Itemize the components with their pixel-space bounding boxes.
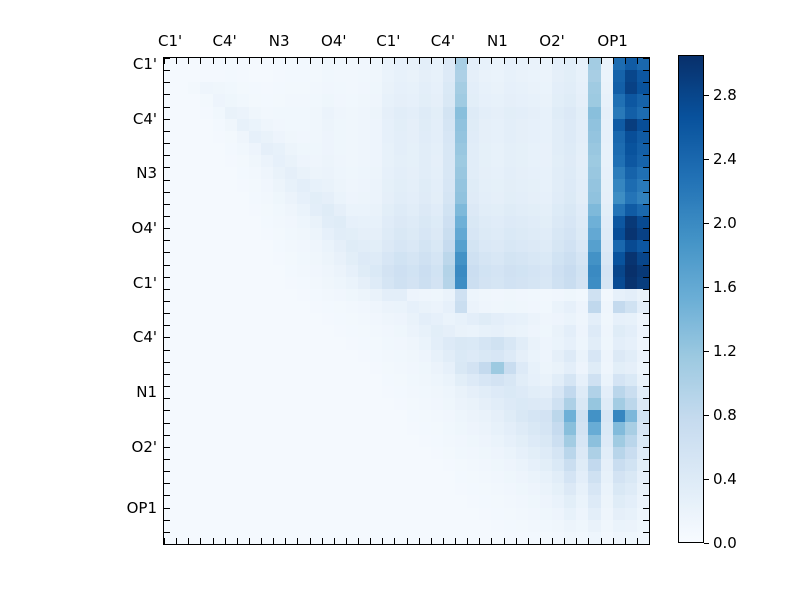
heatmap-cell [540, 240, 552, 252]
y-tick-mark [164, 350, 170, 351]
heatmap-cell [613, 422, 625, 434]
heatmap-cell [516, 325, 528, 337]
heatmap-cell [176, 265, 188, 277]
heatmap-cell [601, 483, 613, 495]
heatmap-cell [407, 289, 419, 301]
y-tick-mark [164, 301, 170, 302]
heatmap-cell [188, 155, 200, 167]
heatmap-cell [588, 422, 600, 434]
heatmap-cell [552, 277, 564, 289]
heatmap-cell [491, 216, 503, 228]
heatmap-cell [540, 82, 552, 94]
heatmap-cell [213, 495, 225, 507]
heatmap-cell [504, 252, 516, 264]
heatmap-cell [382, 508, 394, 520]
heatmap-cell [334, 179, 346, 191]
heatmap-cell [249, 350, 261, 362]
heatmap-cell [637, 532, 649, 544]
heatmap-cell [285, 362, 297, 374]
heatmap-cell [188, 532, 200, 544]
heatmap-cell [176, 350, 188, 362]
heatmap-cell [407, 252, 419, 264]
heatmap-cell [431, 495, 443, 507]
heatmap-cell [285, 192, 297, 204]
heatmap-cell [261, 252, 273, 264]
heatmap-cell [479, 495, 491, 507]
heatmap-cell [213, 143, 225, 155]
heatmap-cell [394, 386, 406, 398]
heatmap-cell [479, 410, 491, 422]
heatmap-cell [200, 350, 212, 362]
heatmap-cell [358, 508, 370, 520]
heatmap-cell [625, 216, 637, 228]
heatmap-cell [394, 374, 406, 386]
heatmap-cell [443, 374, 455, 386]
heatmap-cell [322, 532, 334, 544]
heatmap-cell [491, 155, 503, 167]
heatmap-cell [297, 240, 309, 252]
y-tick-mark [164, 471, 170, 472]
y-tick-mark [643, 374, 649, 375]
heatmap-cell [297, 119, 309, 131]
heatmap-cell [516, 167, 528, 179]
heatmap-cell [431, 179, 443, 191]
heatmap-cell [285, 107, 297, 119]
heatmap-cell [188, 216, 200, 228]
heatmap-cell [588, 216, 600, 228]
heatmap-cell [443, 228, 455, 240]
x-tick-mark [249, 58, 250, 64]
heatmap-cell [273, 289, 285, 301]
heatmap-cell [394, 70, 406, 82]
heatmap-cell [407, 435, 419, 447]
heatmap-cell [176, 337, 188, 349]
heatmap-cell [176, 228, 188, 240]
heatmap-cell [176, 240, 188, 252]
heatmap-cell [576, 374, 588, 386]
heatmap-cell [528, 240, 540, 252]
heatmap-cell [382, 167, 394, 179]
heatmap-cell [176, 362, 188, 374]
heatmap-cell [322, 483, 334, 495]
heatmap-cell [455, 374, 467, 386]
heatmap-cell [346, 265, 358, 277]
heatmap-cell [164, 119, 176, 131]
heatmap-cell [225, 350, 237, 362]
heatmap-cell [491, 398, 503, 410]
heatmap-cell [297, 131, 309, 143]
y-tick-mark [643, 337, 649, 338]
heatmap-cell [225, 483, 237, 495]
heatmap-cell [346, 167, 358, 179]
heatmap-cell [516, 94, 528, 106]
heatmap-cell [164, 289, 176, 301]
heatmap-cell [601, 119, 613, 131]
x-tick-mark [188, 538, 189, 544]
heatmap-cell [310, 337, 322, 349]
heatmap-cell [564, 265, 576, 277]
heatmap-cell [576, 301, 588, 313]
y-tick-mark [643, 180, 649, 181]
heatmap-cell [394, 277, 406, 289]
heatmap-cell [346, 447, 358, 459]
heatmap-cell [200, 386, 212, 398]
heatmap-cell [491, 94, 503, 106]
heatmap-cell [297, 374, 309, 386]
heatmap-cell [443, 495, 455, 507]
heatmap-cell [407, 58, 419, 70]
heatmap-cell [467, 362, 479, 374]
heatmap-cell [322, 350, 334, 362]
heatmap-cell [467, 337, 479, 349]
heatmap-cell [285, 204, 297, 216]
heatmap-cell [285, 398, 297, 410]
heatmap-cell [225, 265, 237, 277]
heatmap-cell [552, 398, 564, 410]
heatmap-cell [455, 228, 467, 240]
heatmap-cell [491, 532, 503, 544]
heatmap-cell [394, 252, 406, 264]
heatmap-cell [540, 277, 552, 289]
heatmap-cell [297, 471, 309, 483]
heatmap-cell [455, 240, 467, 252]
heatmap-cell [310, 374, 322, 386]
heatmap-cell [552, 374, 564, 386]
heatmap-cell [431, 265, 443, 277]
heatmap-cell [637, 435, 649, 447]
heatmap-cell [285, 240, 297, 252]
heatmap-cell [164, 143, 176, 155]
heatmap-cell [455, 350, 467, 362]
x-tick-mark [637, 58, 638, 64]
heatmap-cell [407, 362, 419, 374]
colorbar[interactable]: 0.00.40.81.21.62.02.42.8 [678, 55, 704, 543]
heatmap-cell [273, 82, 285, 94]
colorbar-tick-label: 1.6 [713, 278, 737, 296]
heatmap-cell [213, 386, 225, 398]
heatmap-cell [479, 398, 491, 410]
heatmap-cell [455, 167, 467, 179]
heatmap-cell [540, 447, 552, 459]
heatmap-axes[interactable]: C1'C4'N3O4'C1'C4'N1O2'OP1 C1'C4'N3O4'C1'… [163, 57, 650, 545]
heatmap-cell [285, 82, 297, 94]
heatmap-cell [164, 58, 176, 70]
heatmap-cell [528, 107, 540, 119]
heatmap-cell [504, 94, 516, 106]
x-tick-mark [504, 538, 505, 544]
heatmap-cell [419, 398, 431, 410]
heatmap-cell [637, 119, 649, 131]
heatmap-cell [601, 216, 613, 228]
heatmap-cell [200, 398, 212, 410]
heatmap-cell [394, 410, 406, 422]
heatmap-cell [419, 447, 431, 459]
heatmap-cell [261, 410, 273, 422]
heatmap-cell [564, 204, 576, 216]
heatmap-cell [419, 265, 431, 277]
heatmap-cell [346, 422, 358, 434]
heatmap-cell [358, 374, 370, 386]
y-tick-mark [643, 107, 649, 108]
heatmap-cell [249, 107, 261, 119]
heatmap-cell [285, 265, 297, 277]
heatmap-cell [637, 313, 649, 325]
y-tick-mark [164, 508, 170, 509]
heatmap-cell [601, 301, 613, 313]
heatmap-cell [346, 325, 358, 337]
heatmap-cell [225, 410, 237, 422]
heatmap-cell [564, 107, 576, 119]
heatmap-cell [528, 192, 540, 204]
heatmap-cell [625, 204, 637, 216]
heatmap-cell [346, 240, 358, 252]
heatmap-cell [310, 313, 322, 325]
x-tick-mark [564, 58, 565, 64]
heatmap-cell [370, 167, 382, 179]
heatmap-cell [516, 119, 528, 131]
heatmap-cell [297, 410, 309, 422]
heatmap-cell [273, 422, 285, 434]
heatmap-cell [358, 265, 370, 277]
heatmap-cell [334, 265, 346, 277]
heatmap-cell [249, 143, 261, 155]
x-tick-mark [322, 58, 323, 64]
heatmap-cell [576, 167, 588, 179]
heatmap-cell [491, 520, 503, 532]
heatmap-cell [310, 301, 322, 313]
heatmap-cell [625, 532, 637, 544]
colorbar-tick-label: 2.0 [713, 214, 737, 232]
x-tick-mark [285, 538, 286, 544]
heatmap-cell [334, 82, 346, 94]
heatmap-cell [188, 422, 200, 434]
heatmap-grid [164, 58, 649, 544]
heatmap-cell [516, 179, 528, 191]
heatmap-cell [237, 398, 249, 410]
heatmap-cell [504, 82, 516, 94]
heatmap-cell [273, 447, 285, 459]
heatmap-cell [528, 216, 540, 228]
heatmap-cell [334, 520, 346, 532]
heatmap-cell [491, 289, 503, 301]
heatmap-cell [625, 386, 637, 398]
heatmap-cell [625, 265, 637, 277]
heatmap-cell [382, 435, 394, 447]
heatmap-cell [346, 252, 358, 264]
x-tick-mark [431, 538, 432, 544]
heatmap-cell [431, 386, 443, 398]
heatmap-cell [322, 301, 334, 313]
heatmap-cell [188, 167, 200, 179]
y-tick-mark [164, 410, 170, 411]
heatmap-cell [249, 301, 261, 313]
heatmap-cell [455, 386, 467, 398]
heatmap-cell [601, 240, 613, 252]
y-tick-mark [643, 204, 649, 205]
heatmap-cell [540, 508, 552, 520]
heatmap-cell [467, 94, 479, 106]
heatmap-cell [625, 179, 637, 191]
heatmap-cell [164, 94, 176, 106]
heatmap-cell [431, 459, 443, 471]
x-tick-mark [467, 58, 468, 64]
heatmap-cell [443, 240, 455, 252]
heatmap-cell [225, 155, 237, 167]
heatmap-cell [576, 70, 588, 82]
heatmap-cell [322, 520, 334, 532]
heatmap-cell [261, 495, 273, 507]
heatmap-cell [225, 94, 237, 106]
heatmap-cell [285, 325, 297, 337]
y-tick-mark [643, 410, 649, 411]
heatmap-cell [564, 495, 576, 507]
heatmap-cell [346, 216, 358, 228]
heatmap-cell [346, 179, 358, 191]
y-tick-label: N3 [136, 164, 157, 182]
colorbar-tick-mark [704, 415, 709, 416]
heatmap-cell [285, 216, 297, 228]
y-tick-mark [643, 435, 649, 436]
heatmap-cell [491, 362, 503, 374]
x-tick-mark [346, 58, 347, 64]
heatmap-cell [334, 410, 346, 422]
heatmap-cell [467, 459, 479, 471]
heatmap-cell [516, 386, 528, 398]
heatmap-cell [346, 520, 358, 532]
heatmap-cell [200, 313, 212, 325]
heatmap-cell [213, 313, 225, 325]
heatmap-cell [358, 289, 370, 301]
heatmap-cell [310, 483, 322, 495]
heatmap-cell [237, 459, 249, 471]
x-tick-mark [637, 538, 638, 544]
x-tick-mark [552, 58, 553, 64]
heatmap-cell [588, 301, 600, 313]
y-tick-mark [164, 94, 170, 95]
heatmap-cell [625, 58, 637, 70]
heatmap-cell [261, 337, 273, 349]
heatmap-cell [552, 508, 564, 520]
heatmap-cell [176, 435, 188, 447]
colorbar-tick-label: 2.4 [713, 150, 737, 168]
heatmap-cell [297, 313, 309, 325]
x-tick-mark [431, 58, 432, 64]
heatmap-cell [346, 532, 358, 544]
heatmap-cell [613, 167, 625, 179]
heatmap-cell [467, 398, 479, 410]
heatmap-cell [285, 313, 297, 325]
x-tick-mark [297, 538, 298, 544]
heatmap-cell [419, 520, 431, 532]
heatmap-cell [334, 119, 346, 131]
heatmap-cell [273, 119, 285, 131]
x-tick-mark [588, 58, 589, 64]
heatmap-cell [164, 459, 176, 471]
heatmap-cell [528, 459, 540, 471]
heatmap-cell [176, 167, 188, 179]
heatmap-cell [491, 459, 503, 471]
heatmap-cell [588, 337, 600, 349]
heatmap-cell [394, 520, 406, 532]
heatmap-cell [443, 459, 455, 471]
heatmap-cell [370, 447, 382, 459]
heatmap-cell [285, 58, 297, 70]
y-tick-mark [164, 180, 170, 181]
heatmap-cell [455, 520, 467, 532]
heatmap-cell [516, 155, 528, 167]
x-tick-label: OP1 [597, 32, 627, 50]
heatmap-cell [310, 362, 322, 374]
heatmap-cell [225, 58, 237, 70]
heatmap-cell [491, 58, 503, 70]
heatmap-cell [455, 58, 467, 70]
heatmap-cell [358, 313, 370, 325]
heatmap-cell [528, 289, 540, 301]
heatmap-cell [334, 386, 346, 398]
heatmap-cell [637, 155, 649, 167]
heatmap-cell [358, 167, 370, 179]
heatmap-cell [552, 350, 564, 362]
x-tick-mark [528, 58, 529, 64]
heatmap-cell [540, 179, 552, 191]
heatmap-cell [491, 70, 503, 82]
heatmap-cell [249, 240, 261, 252]
heatmap-cell [188, 350, 200, 362]
heatmap-cell [613, 131, 625, 143]
heatmap-cell [564, 119, 576, 131]
heatmap-cell [479, 325, 491, 337]
heatmap-cell [431, 192, 443, 204]
y-tick-mark [643, 398, 649, 399]
heatmap-cell [297, 252, 309, 264]
heatmap-cell [576, 495, 588, 507]
heatmap-cell [479, 131, 491, 143]
heatmap-cell [419, 107, 431, 119]
heatmap-cell [370, 422, 382, 434]
heatmap-cell [564, 216, 576, 228]
heatmap-cell [225, 228, 237, 240]
heatmap-cell [407, 337, 419, 349]
heatmap-cell [176, 532, 188, 544]
heatmap-cell [164, 228, 176, 240]
heatmap-cell [200, 520, 212, 532]
heatmap-cell [431, 325, 443, 337]
heatmap-cell [382, 520, 394, 532]
x-tick-mark [200, 58, 201, 64]
heatmap-cell [576, 337, 588, 349]
heatmap-cell [358, 447, 370, 459]
heatmap-cell [431, 447, 443, 459]
heatmap-cell [479, 508, 491, 520]
y-tick-mark [643, 313, 649, 314]
heatmap-cell [213, 422, 225, 434]
heatmap-cell [576, 204, 588, 216]
heatmap-cell [261, 520, 273, 532]
heatmap-cell [225, 277, 237, 289]
heatmap-cell [310, 459, 322, 471]
heatmap-cell [576, 313, 588, 325]
heatmap-cell [297, 422, 309, 434]
heatmap-cell [588, 228, 600, 240]
heatmap-cell [322, 459, 334, 471]
x-tick-label: O2' [539, 32, 564, 50]
heatmap-cell [370, 228, 382, 240]
heatmap-cell [431, 532, 443, 544]
heatmap-cell [200, 216, 212, 228]
heatmap-cell [443, 82, 455, 94]
heatmap-cell [225, 313, 237, 325]
x-tick-mark [504, 58, 505, 64]
